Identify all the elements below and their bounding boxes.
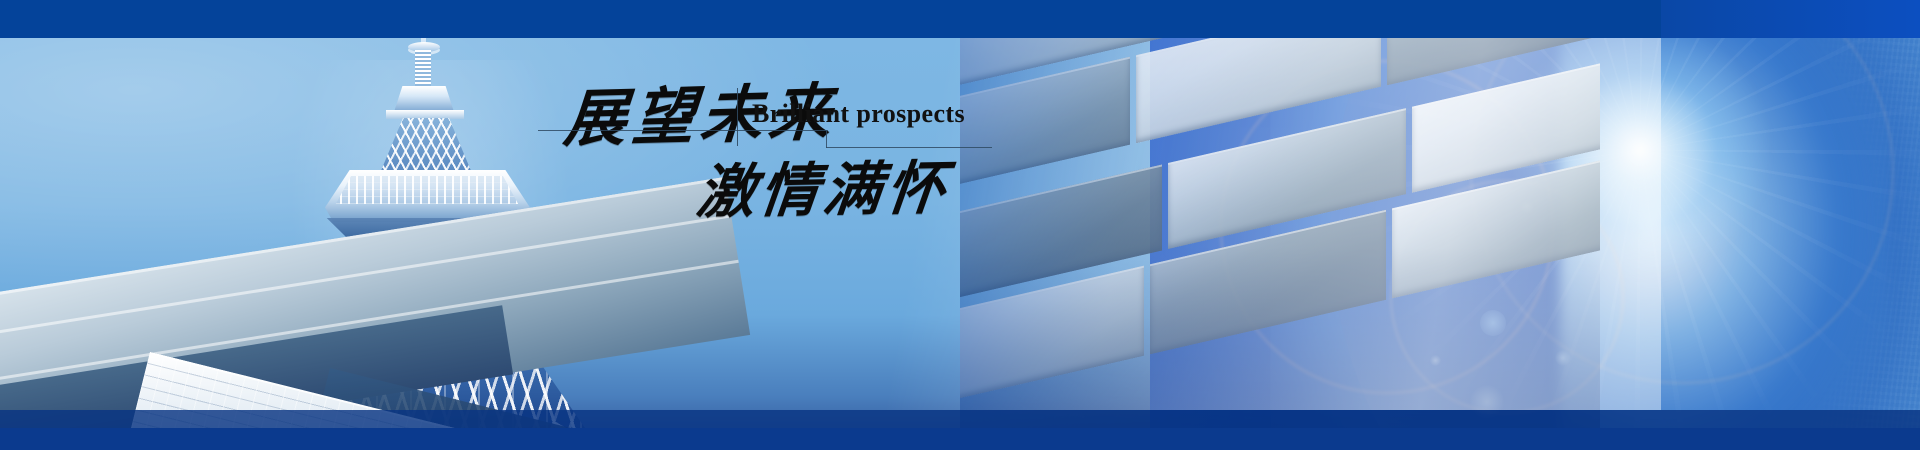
slogan-rule-upper [538,130,828,131]
slogan-block: 展望未来 Brilliant prospects 激情满怀 [530,55,1010,225]
top-navy-bar-right [1661,0,1920,38]
banner: 展望未来 Brilliant prospects 激情满怀 [0,0,1920,450]
tower-upper-observatory [394,86,454,112]
slogan-english: Brilliant prospects [752,99,965,129]
tower-upper-deck [386,110,464,119]
metallic-hexagon-blocks [960,0,1600,450]
top-navy-bar [0,0,1920,38]
hexagon-block-shading [960,0,1600,450]
slogan-chinese-line-2: 激情满怀 [693,141,954,229]
tower-upper-pole [415,50,431,88]
tower-observatory-windows [332,176,522,204]
slogan-vertical-divider [737,88,738,146]
bottom-navy-bar [0,428,1920,450]
